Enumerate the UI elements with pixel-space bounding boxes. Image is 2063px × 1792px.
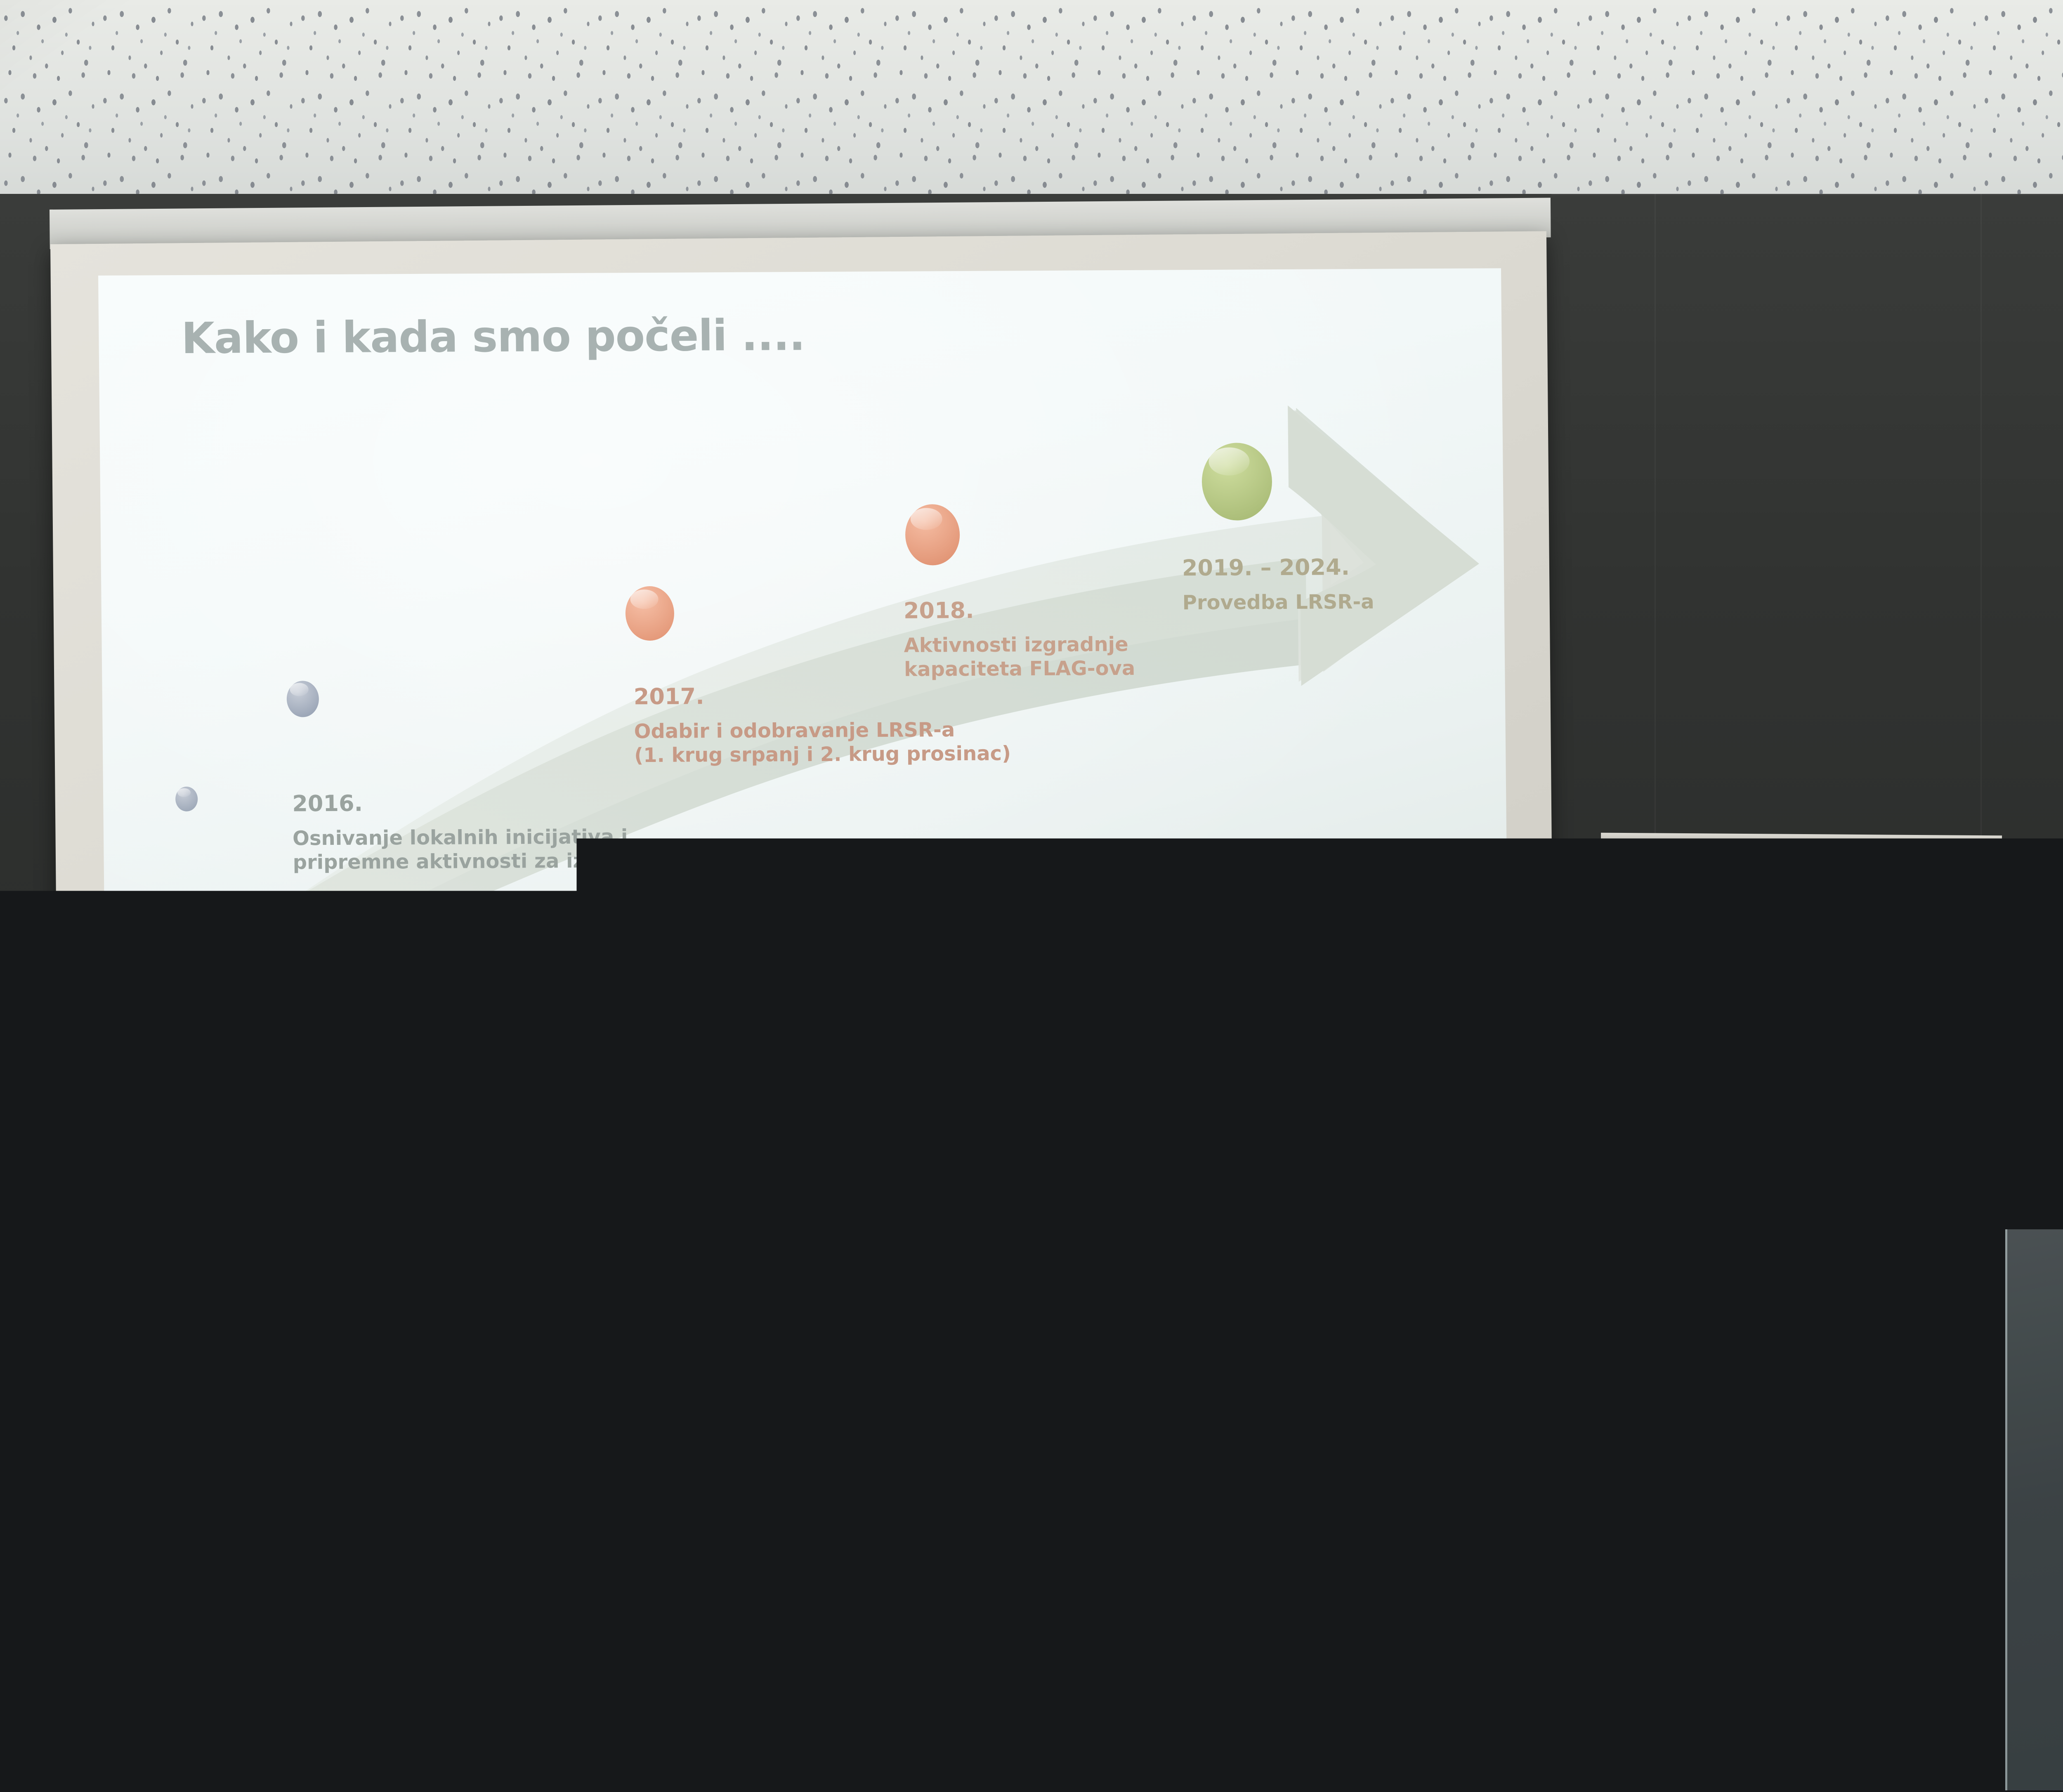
banner-micro-text-row: MINISTARSTVO POLJOPRIVREDE, ŠUMARSTVA I …	[1603, 1414, 1999, 1429]
banner-micro-text-row: MINISTARSTVO POLJOPRIVREDE, ŠUMARSTVA I …	[1603, 1441, 1910, 1456]
banner-micro-text-row: MINISTARSTVO POLJOPRIVREDE, ŠUMARSTVA I …	[1603, 1217, 1911, 1232]
banner-micro-text-row: MINISTARSTVO POLJOPRIVREDE, ŠUMARSTVA I …	[1603, 853, 1999, 868]
milestone-dot-2016	[286, 681, 319, 717]
milestone-dot-2015	[175, 787, 198, 811]
banner-micro-text-row: MINISTARSTVO POLJOPRIVREDE, ŠUMARSTVA I …	[1603, 1329, 1910, 1344]
banner-micro-text-row: MINISTARSTVO POLJOPRIVREDE, ŠUMARSTVA I …	[1603, 1497, 1909, 1512]
nacionalna-mreza-logo-icon: Nacionalna mreža ZPP-a	[2030, 887, 2063, 982]
banner-micro-text-row: MINISTARSTVO POLJOPRIVREDE, ŠUMARSTVA I …	[1603, 1385, 1910, 1400]
banner-ministry-url: poljoprivreda.gov.hr	[1617, 1166, 1989, 1184]
wall-seam	[1980, 194, 1982, 854]
banner-micro-text-row: MINISTARSTVO POLJOPRIVREDE, ŠUMARSTVA I …	[1603, 1273, 1911, 1288]
milestone-dot-2017	[625, 586, 674, 641]
milestone-label-2017: 2017. Odabir i odobravanje LRSR-a (1. kr…	[634, 681, 1011, 768]
banner-micro-text-row: MINISTARSTVO POLJOPRIVREDE, ŠUMARSTVA I …	[1603, 1246, 1999, 1261]
banner-micro-text-row: MINISTARSTVO POLJOPRIVREDE, ŠUMARSTVA I …	[1603, 1470, 1999, 1485]
banner-micro-text-row: MINISTARSTVO POLJOPRIVREDE, ŠUMARSTVA I …	[1603, 909, 1999, 924]
wall-seam	[1073, 1085, 1074, 1184]
croatian-coat-of-arms-icon	[1749, 1027, 1810, 1101]
milestone-label-2016: 2016. Osnivanje lokalnih inicijativa i p…	[292, 788, 722, 875]
banner-micro-text-row: MINISTARSTVO POLJOPRIVREDE, ŠUMARSTVA I …	[1603, 1358, 1999, 1373]
banner-micro-text-row: MINISTARSTVO POLJOPRIVREDE, ŠUMARSTVA I …	[1603, 1302, 1999, 1317]
milestone-label-2019-2024: 2019. – 2024. Provedba LRSR-a	[1182, 554, 1374, 615]
milestone-dot-2018	[905, 504, 960, 566]
presentation-slide: Kako i kada smo počeli .... 2015. Inform…	[98, 268, 1508, 1026]
milestone-label-2015: 2015. Informativna kampanja o CLLD-u	[154, 917, 521, 979]
milestone-label-2018: 2018. Aktivnosti izgradnje kapaciteta FL…	[904, 596, 1135, 682]
conference-room-scene: Kako i kada smo počeli .... 2015. Inform…	[0, 0, 2063, 1792]
banner-micro-text-row: MINISTARSTVO POLJOPRIVREDE, ŠUMARSTVA I …	[1603, 993, 1913, 1007]
carpet-brown	[998, 1518, 1824, 1792]
wall-outlet	[1522, 1481, 1569, 1508]
banner-micro-text-row: MINISTARSTVO POLJOPRIVREDE, ŠUMARSTVA I …	[1603, 965, 1999, 980]
banner-ministry-title: MINISTARSTVO POLJOPRIVREDE, ŠUMARSTVA I …	[1617, 1108, 1989, 1158]
banner-micro-text-row: MINISTARSTVO POLJOPRIVREDE, ŠUMARSTVA I …	[1603, 880, 1914, 895]
banner-micro-text-row: MINISTARSTVO POLJOPRIVREDE, ŠUMARSTVA I …	[1603, 1190, 1999, 1205]
banner-micro-text-row: MINISTARSTVO POLJOPRIVREDE, ŠUMARSTVA I …	[1603, 936, 1913, 951]
carpet-brown-right	[1774, 1592, 2063, 1792]
wall-panel-line	[1551, 194, 2063, 195]
stage-riser	[0, 1510, 998, 1792]
wall-seam	[1655, 194, 1656, 842]
slide-title: Kako i kada smo počeli ....	[181, 310, 805, 363]
milestone-dot-2019-2024	[1201, 443, 1272, 521]
timeline-arrow-icon	[98, 268, 1508, 1026]
banner-network-top-rail	[2008, 842, 2063, 852]
